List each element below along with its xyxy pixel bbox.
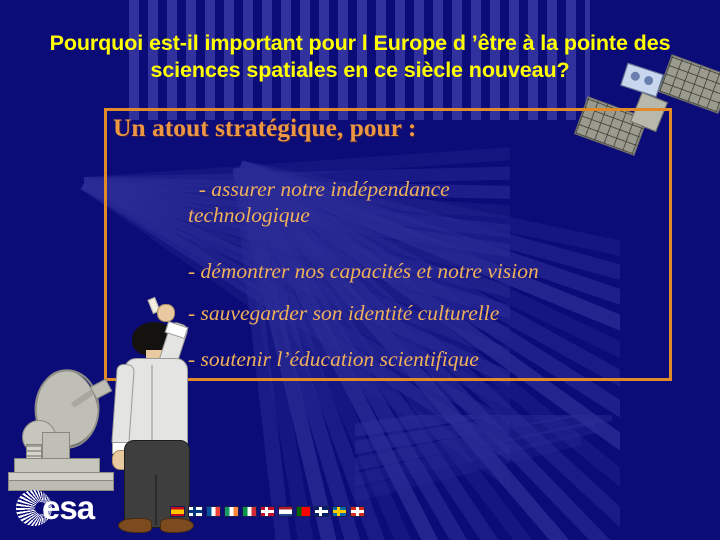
content-heading: Un atout stratégique, pour : xyxy=(113,113,416,143)
flag-spain xyxy=(170,506,185,517)
list-item: - soutenir l’éducation scientifique xyxy=(188,346,479,372)
member-state-flags xyxy=(170,506,365,517)
list-item: - assurer notre indépendance technologiq… xyxy=(188,176,608,228)
background-swoosh xyxy=(355,415,675,540)
person-raised-hand xyxy=(157,304,175,322)
slide-title-line1: Pourquoi est-il important pour l Europe … xyxy=(0,30,720,57)
presentation-slide: Pourquoi est-il important pour l Europe … xyxy=(0,0,720,540)
flag-france xyxy=(206,506,221,517)
satellite-solar-panel-right xyxy=(658,54,720,113)
flag-united-kingdom xyxy=(314,506,329,517)
flag-sweden xyxy=(332,506,347,517)
person-shoe-right xyxy=(160,518,194,533)
satellite-instrument-panel xyxy=(620,63,664,98)
list-item: - sauvegarder son identité culturelle xyxy=(188,300,499,326)
esa-logo: esa xyxy=(16,488,128,530)
flag-ireland xyxy=(224,506,239,517)
flag-netherlands xyxy=(278,506,293,517)
flag-denmark xyxy=(260,506,275,517)
list-item: - démontrer nos capacités et notre visio… xyxy=(188,258,539,284)
flag-portugal xyxy=(296,506,311,517)
flag-finland xyxy=(188,506,203,517)
flag-switzerland xyxy=(350,506,365,517)
esa-logo-text: esa xyxy=(42,489,94,527)
flag-italy xyxy=(242,506,257,517)
